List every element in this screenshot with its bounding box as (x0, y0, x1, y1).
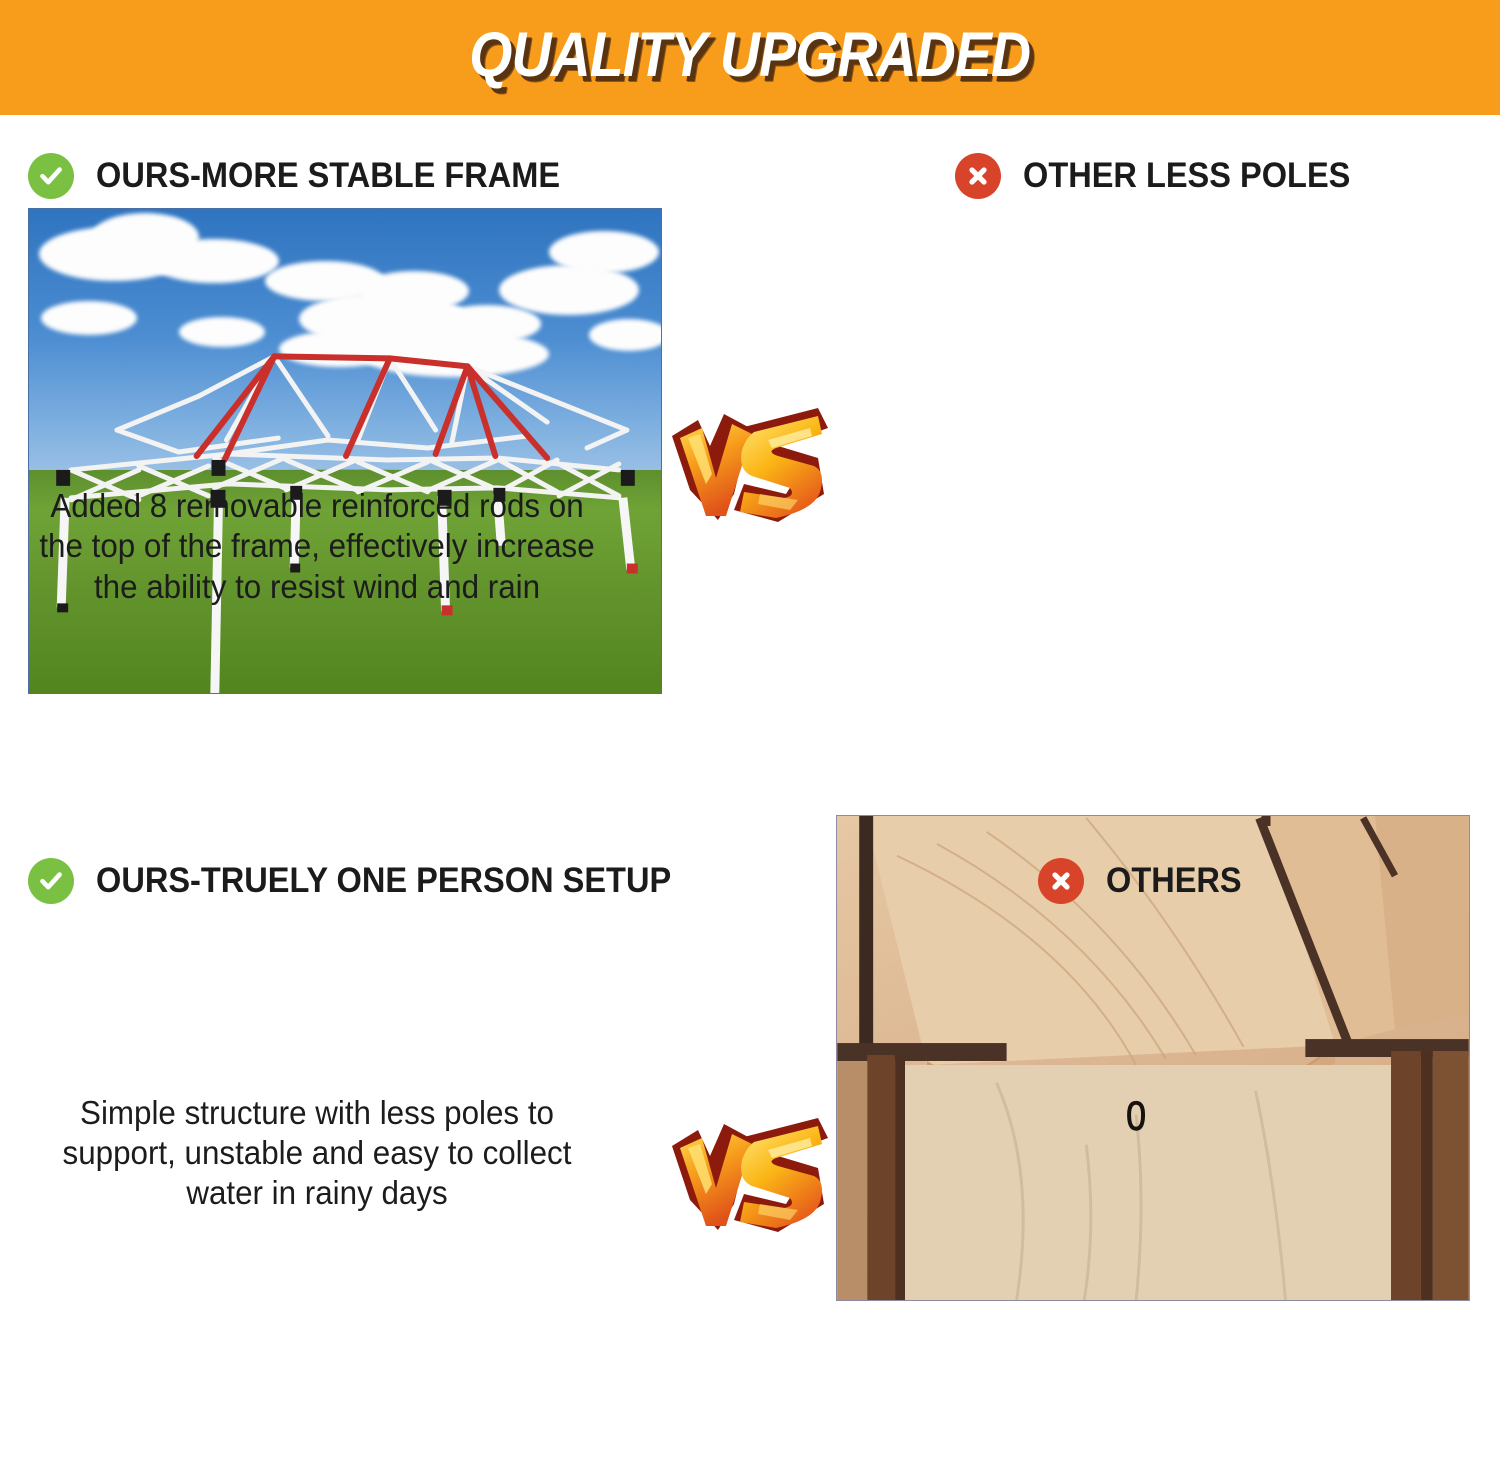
panel-header: OTHERS (1038, 855, 1438, 907)
cross-icon (1038, 858, 1084, 904)
panel-header: OTHER LESS POLES (955, 150, 1475, 202)
caption-other-less-poles: Simple structure with less poles to supp… (16, 1093, 618, 1214)
vs-badge-top (668, 398, 833, 543)
canopy-frame-illustration (29, 209, 661, 693)
vs-badge-bottom (668, 1108, 833, 1253)
panel-title: OURS-TRUELY ONE PERSON SETUP (96, 861, 671, 901)
panel-title: OURS-MORE STABLE FRAME (96, 156, 560, 196)
panel-ours-one-person-setup: OURS-TRUELY ONE PERSON SETUP (28, 855, 688, 907)
panel-header: OURS-TRUELY ONE PERSON SETUP (28, 855, 688, 907)
caption-ours-stable-frame: Added 8 removable reinforced rods on the… (16, 486, 618, 607)
panel-other-less-poles: OTHER LESS POLES (955, 150, 1475, 202)
cross-icon (955, 153, 1001, 199)
page-title: QUALITY UPGRADED (470, 24, 1031, 91)
panel-title: OTHERS (1106, 861, 1242, 901)
page-header-banner: QUALITY UPGRADED (0, 0, 1500, 115)
panel-others: OTHERS (1038, 855, 1438, 907)
panel-title: OTHER LESS POLES (1023, 156, 1350, 196)
panel-ours-stable-frame: OURS-MORE STABLE FRAME (28, 150, 668, 202)
check-icon (28, 153, 74, 199)
panel-header: OURS-MORE STABLE FRAME (28, 150, 668, 202)
check-icon (28, 858, 74, 904)
canopy-frame-in-field-photo (28, 208, 662, 694)
